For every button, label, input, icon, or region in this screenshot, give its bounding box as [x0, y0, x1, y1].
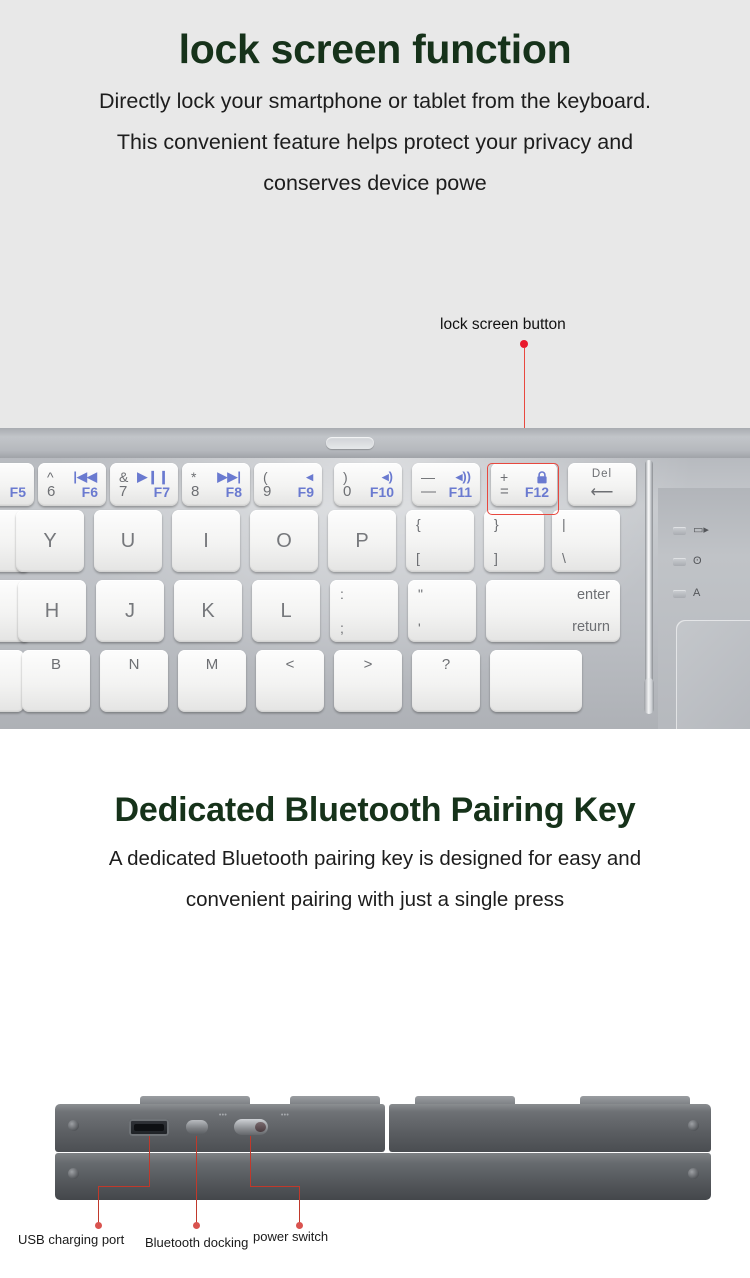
key-period[interactable]: >: [334, 650, 402, 712]
key-f11-fn-label: F11: [449, 485, 472, 499]
key-backslash-label: \: [562, 551, 566, 565]
power-leader-drop: [299, 1186, 300, 1224]
description-line-1: Directly lock your smartphone or tablet …: [26, 81, 724, 122]
key-backslash[interactable]: | \: [552, 510, 620, 572]
key-j[interactable]: J: [96, 580, 164, 642]
capslock-icon: A: [693, 588, 700, 599]
key-i-label: I: [172, 531, 240, 551]
play-pause-icon: ▶❙❙: [137, 470, 169, 483]
key-k-label: K: [174, 601, 242, 621]
key-h[interactable]: H: [18, 580, 86, 642]
key-j-label: J: [96, 601, 164, 621]
bluetooth-pairing-section: Dedicated Bluetooth Pairing Key A dedica…: [0, 729, 750, 1278]
key-shift-right[interactable]: [490, 650, 582, 712]
key-f10-fn-label: F10: [370, 485, 394, 499]
key-n-label: N: [100, 657, 168, 672]
usb-leader-drop: [98, 1186, 99, 1224]
callout-label-usb-charging-port: USB charging port: [18, 1232, 124, 1247]
key-o-label: O: [250, 531, 318, 551]
usb-callout-dot: [95, 1222, 102, 1229]
power-callout-dot: [296, 1222, 303, 1229]
page-title: lock screen function: [0, 26, 750, 73]
key-bracket-right-shift-label: }: [494, 517, 499, 531]
backspace-arrow-icon: ⟵: [568, 485, 636, 501]
description-line-2: This convenient feature helps protect yo…: [26, 122, 724, 163]
key-f6-shift-label: ^: [47, 470, 54, 484]
keyboard-photo: % 5 F5 ^ |◀◀ 6 F6 & ▶❙❙ 7 F7 * ▶▶| 8 F8: [0, 428, 750, 729]
key-bracket-left-shift-label: {: [416, 517, 421, 531]
key-m-label: M: [178, 657, 246, 672]
key-o[interactable]: O: [250, 510, 318, 572]
key-l-label: L: [252, 601, 320, 621]
bluetooth-leader-vertical: [196, 1136, 197, 1224]
lock-screen-section: lock screen function Directly lock your …: [0, 0, 750, 729]
key-semicolon-label: ;: [340, 621, 344, 635]
key-f7[interactable]: & ▶❙❙ 7 F7: [110, 463, 178, 506]
key-n[interactable]: N: [100, 650, 168, 712]
key-y-label: Y: [16, 531, 84, 551]
key-f11-number-label: —: [421, 484, 436, 499]
key-bracket-right-label: ]: [494, 551, 498, 565]
battery-led: [673, 527, 686, 535]
key-u[interactable]: U: [94, 510, 162, 572]
key-f9-fn-label: F9: [298, 485, 314, 499]
key-quote[interactable]: " ': [408, 580, 476, 642]
key-f8-fn-label: F8: [226, 485, 242, 499]
callout-label-power-switch: power switch: [253, 1229, 328, 1244]
bluetooth-icon: ʘ: [693, 556, 702, 567]
key-b-label: B: [22, 657, 90, 672]
key-bracket-right[interactable]: } ]: [484, 510, 544, 572]
callout-label-lock-screen-button: lock screen button: [440, 316, 566, 334]
key-bracket-left-label: [: [416, 551, 420, 565]
bluetooth-callout-dot: [193, 1222, 200, 1229]
key-f8-shift-label: *: [191, 470, 196, 484]
key-return-label: return: [572, 620, 610, 635]
key-f8-number-label: 8: [191, 484, 199, 499]
bluetooth-led: [673, 558, 686, 566]
battery-indicator-row: ▭▸: [673, 525, 709, 536]
key-f7-shift-label: &: [119, 470, 128, 484]
keyboard-chassis-top-edge: [0, 428, 750, 458]
key-p[interactable]: P: [328, 510, 396, 572]
key-slash[interactable]: ?: [412, 650, 480, 712]
volume-up-icon: ◂)): [456, 470, 471, 483]
key-f5[interactable]: % 5 F5: [0, 463, 34, 506]
key-enter-return[interactable]: enter return: [486, 580, 620, 642]
key-f5-fn-label: F5: [10, 485, 26, 499]
key-semicolon[interactable]: : ;: [330, 580, 398, 642]
power-leader-horizontal: [250, 1186, 300, 1187]
key-f10-shift-label: ): [343, 470, 348, 484]
description-line-3: conserves device powe: [26, 163, 724, 204]
key-f6-number-label: 6: [47, 484, 55, 499]
key-comma[interactable]: <: [256, 650, 324, 712]
hinge-cap: [644, 678, 654, 714]
keyboard-deck: % 5 F5 ^ |◀◀ 6 F6 & ▶❙❙ 7 F7 * ▶▶| 8 F8: [0, 458, 750, 729]
key-l[interactable]: L: [252, 580, 320, 642]
device-callouts: USB charging port Bluetooth docking powe…: [0, 729, 750, 1278]
chassis-latch-notch: [326, 437, 374, 449]
key-f9-shift-label: (: [263, 470, 268, 484]
key-double-quote-label: ": [418, 587, 423, 601]
key-f10-number-label: 0: [343, 484, 351, 499]
bluetooth-indicator-row: ʘ: [673, 556, 702, 567]
key-f9-number-label: 9: [263, 484, 271, 499]
key-f9[interactable]: ( ◂ 9 F9: [254, 463, 322, 506]
key-b[interactable]: B: [22, 650, 90, 712]
usb-leader-vertical: [149, 1136, 150, 1187]
key-f7-fn-label: F7: [154, 485, 170, 499]
key-i[interactable]: I: [172, 510, 240, 572]
key-f10[interactable]: ) ◂) 0 F10: [334, 463, 402, 506]
key-pipe-label: |: [562, 517, 566, 531]
lock-key-highlight-box: [487, 463, 559, 515]
key-h-label: H: [18, 601, 86, 621]
key-slash-label: ?: [412, 657, 480, 672]
trackpad[interactable]: [676, 620, 750, 729]
next-track-icon: ▶▶|: [217, 470, 241, 483]
key-v[interactable]: [0, 650, 24, 712]
key-f11-shift-label: —: [421, 470, 435, 484]
key-bracket-left[interactable]: { [: [406, 510, 474, 572]
usb-leader-horizontal: [98, 1186, 150, 1187]
key-y[interactable]: Y: [16, 510, 84, 572]
key-delete[interactable]: Del ⟵: [568, 463, 636, 506]
hinge-rod: [645, 460, 653, 692]
key-enter-label: enter: [577, 588, 610, 603]
lock-screen-description: Directly lock your smartphone or tablet …: [0, 81, 750, 204]
key-u-label: U: [94, 531, 162, 551]
key-apostrophe-label: ': [418, 621, 421, 635]
volume-down-icon: ◂): [382, 470, 393, 483]
key-k[interactable]: K: [174, 580, 242, 642]
key-period-label: >: [334, 657, 402, 672]
volume-mute-icon: ◂: [306, 470, 313, 483]
key-p-label: P: [328, 531, 396, 551]
key-f7-number-label: 7: [119, 484, 127, 499]
key-m[interactable]: M: [178, 650, 246, 712]
battery-icon: ▭▸: [693, 525, 709, 536]
key-f11[interactable]: — ◂)) — F11: [412, 463, 480, 506]
key-comma-label: <: [256, 657, 324, 672]
callout-label-bluetooth-docking: Bluetooth docking: [145, 1235, 248, 1250]
capslock-led: [673, 590, 686, 598]
key-f6-fn-label: F6: [82, 485, 98, 499]
power-leader-vertical: [250, 1136, 251, 1187]
prev-track-icon: |◀◀: [73, 470, 97, 483]
key-f6[interactable]: ^ |◀◀ 6 F6: [38, 463, 106, 506]
key-colon-label: :: [340, 587, 344, 601]
callout-dot: [520, 340, 528, 348]
capslock-indicator-row: A: [673, 588, 700, 599]
key-f8[interactable]: * ▶▶| 8 F8: [182, 463, 250, 506]
key-delete-label: Del: [568, 469, 636, 481]
